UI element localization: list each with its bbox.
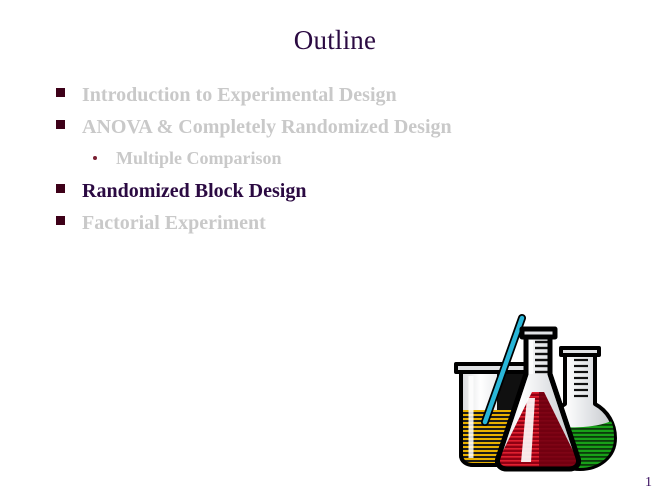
outline-item-multiple-comparison[interactable]: Multiple Comparison [56,148,616,180]
square-bullet-icon [56,216,82,225]
laboratory-glassware-icon [447,312,622,477]
page-title: Outline [0,24,670,56]
dot-bullet-icon [90,156,116,160]
square-bullet-icon [56,120,82,129]
outline-item-label: Introduction to Experimental Design [82,84,397,107]
slide-canvas: Outline Introduction to Experimental Des… [0,0,670,503]
outline-item-anova[interactable]: ANOVA & Completely Randomized Design [56,116,616,148]
square-bullet-icon [56,184,82,193]
outline-item-factorial-experiment[interactable]: Factorial Experiment [56,212,616,244]
outline-item-label: ANOVA & Completely Randomized Design [82,116,452,139]
outline-item-label: Randomized Block Design [82,180,306,203]
outline-list: Introduction to Experimental Design ANOV… [56,84,616,244]
page-number: 1 [645,475,652,491]
outline-item-label: Multiple Comparison [116,148,282,169]
outline-item-introduction[interactable]: Introduction to Experimental Design [56,84,616,116]
outline-item-label: Factorial Experiment [82,212,266,235]
outline-item-randomized-block-design[interactable]: Randomized Block Design [56,180,616,212]
square-bullet-icon [56,88,82,97]
